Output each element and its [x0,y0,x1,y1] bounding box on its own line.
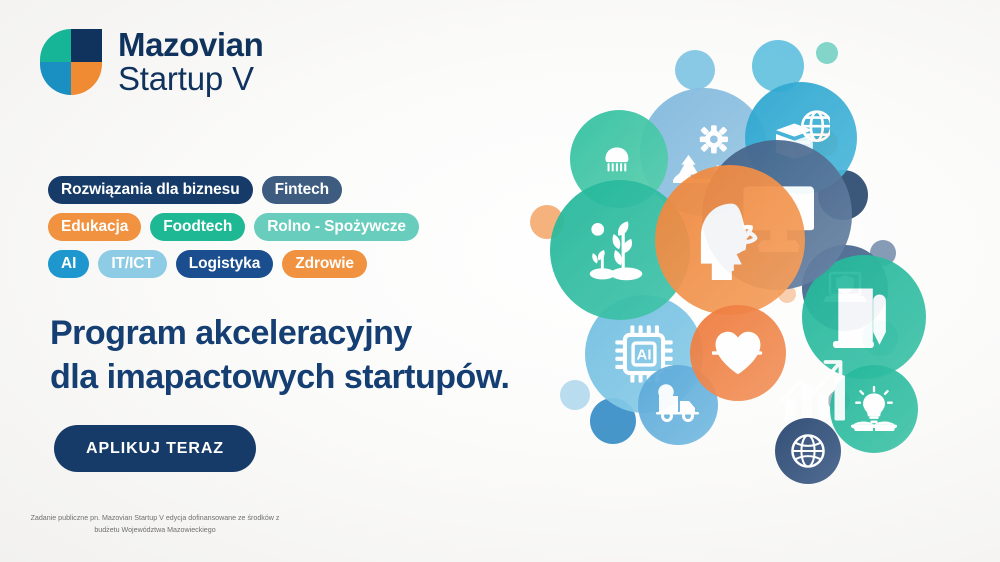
tag-logistyka[interactable]: Logistyka [176,250,273,278]
brand-name-line2: Startup V [118,62,263,96]
apply-now-button[interactable]: APLIKUJ TERAZ [54,425,256,472]
shield-quadrant-top-right [71,29,102,62]
tag-it-ict[interactable]: IT/ICT [98,250,166,278]
poster-canvas: Mazovian Startup V Rozwiązania dla bizne… [0,0,1000,562]
bread-icon [596,136,642,182]
plants-icon [585,215,655,285]
industry-bubble-cluster: AAI [530,40,1000,490]
funding-disclaimer: Zadanie publiczne pn. Mazovian Startup V… [30,512,280,536]
tag-zdrowie[interactable]: Zdrowie [282,250,367,278]
svg-text:A: A [857,298,865,310]
brand-logo: Mazovian Startup V [40,28,263,95]
headline-line-1: Program akceleracyjny [50,312,509,356]
footer: Zadanie publiczne pn. Mazovian Startup V… [0,500,1000,562]
tag-foodtech[interactable]: Foodtech [150,213,245,241]
bubble-health-heart [690,305,786,401]
tag-rolno-spozywcze[interactable]: Rolno - Spożywcze [254,213,419,241]
tag-rozwiazania-dla-biznesu[interactable]: Rozwiązania dla biznesu [48,176,253,204]
tag-row-1: Rozwiązania dla biznesuFintech [48,176,478,204]
accent-dot-teal-tiny [816,42,838,64]
bar-chart-arrow-icon [779,356,845,422]
page-title: Program akceleracyjny dla imapactowych s… [50,312,509,399]
tag-ai[interactable]: AI [48,250,89,278]
tag-row-2: EdukacjaFoodtechRolno - Spożywcze [48,213,478,241]
bubble-wellbeing-head [655,165,805,315]
tag-edukacja[interactable]: Edukacja [48,213,141,241]
globe-icon [790,433,826,469]
heart-pulse-icon [712,327,764,379]
brand-wordmark: Mazovian Startup V [118,28,263,95]
tag-row-3: AIIT/ICTLogistykaZdrowie [48,250,478,278]
head-lotus-icon [690,200,770,280]
svg-text:AI: AI [637,346,652,363]
truck-clock-icon [656,383,700,427]
category-tag-list: Rozwiązania dla biznesuFintechEdukacjaFo… [48,176,478,287]
accent-dot-pale-blue [560,380,590,410]
bubble-global-globe [775,418,841,484]
shield-quadrant-top-left [40,29,71,62]
tag-fintech[interactable]: Fintech [262,176,342,204]
shield-quadrant-bottom-left [40,62,71,95]
mazovian-shield-icon [40,29,102,95]
accent-dot-blue-top [675,50,715,90]
headline-line-2: dla imapactowych startupów. [50,356,509,400]
shield-quadrant-bottom-right [71,62,102,95]
brand-name-line1: Mazovian [118,28,263,62]
